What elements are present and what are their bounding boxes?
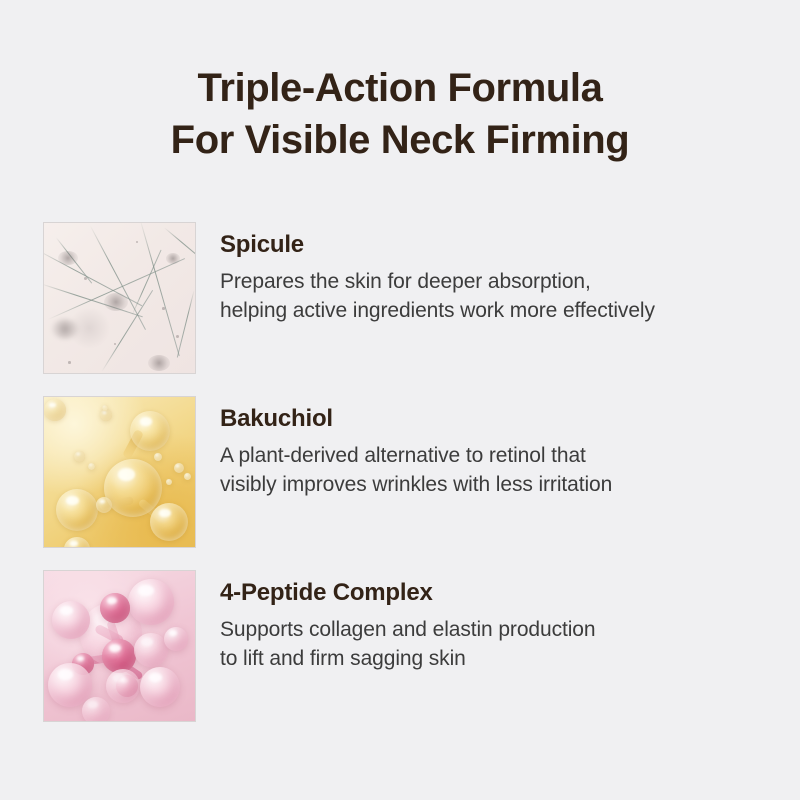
ingredient-name: 4-Peptide Complex <box>220 578 780 608</box>
bakuchiol-bubble-artwork <box>44 397 195 547</box>
spicule-microscopy-image <box>43 222 196 374</box>
description-line-1: Prepares the skin for deeper absorption, <box>220 267 780 296</box>
list-item: Spicule Prepares the skin for deeper abs… <box>43 222 783 374</box>
ingredient-description: Prepares the skin for deeper absorption,… <box>220 267 780 325</box>
ingredient-list: Spicule Prepares the skin for deeper abs… <box>43 222 783 722</box>
peptide-molecule-spheres-image <box>43 570 196 722</box>
description-line-1: Supports collagen and elastin production <box>220 615 780 644</box>
description-line-2: visibly improves wrinkles with less irri… <box>220 470 780 499</box>
description-line-1: A plant-derived alternative to retinol t… <box>220 441 780 470</box>
infographic-page: Triple-Action Formula For Visible Neck F… <box>0 0 800 800</box>
ingredient-name: Spicule <box>220 230 780 260</box>
ingredient-copy: Bakuchiol A plant-derived alternative to… <box>220 404 780 499</box>
description-line-2: to lift and firm sagging skin <box>220 644 780 673</box>
list-item: Bakuchiol A plant-derived alternative to… <box>43 396 783 548</box>
ingredient-name: Bakuchiol <box>220 404 780 434</box>
page-title: Triple-Action Formula For Visible Neck F… <box>0 62 800 166</box>
bakuchiol-oil-bubbles-image <box>43 396 196 548</box>
description-line-2: helping active ingredients work more eff… <box>220 296 780 325</box>
list-item: 4-Peptide Complex Supports collagen and … <box>43 570 783 722</box>
ingredient-description: Supports collagen and elastin production… <box>220 615 780 673</box>
ingredient-copy: 4-Peptide Complex Supports collagen and … <box>220 578 780 673</box>
page-title-line-2: For Visible Neck Firming <box>0 114 800 166</box>
ingredient-copy: Spicule Prepares the skin for deeper abs… <box>220 230 780 325</box>
ingredient-description: A plant-derived alternative to retinol t… <box>220 441 780 499</box>
peptide-sphere-artwork <box>44 571 195 721</box>
page-title-line-1: Triple-Action Formula <box>0 62 800 114</box>
spicule-fiber-artwork <box>44 223 195 373</box>
